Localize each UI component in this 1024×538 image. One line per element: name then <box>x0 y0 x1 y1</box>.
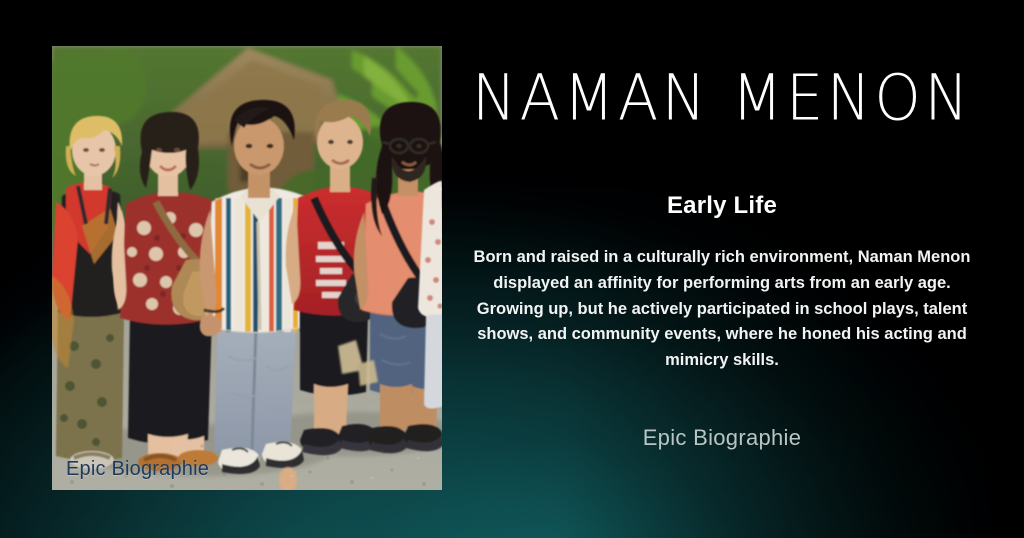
group-photo: Epic Biographie <box>52 46 442 490</box>
brand-watermark: Epic Biographie <box>450 425 994 451</box>
page-title: NAMAN MENON <box>450 66 994 129</box>
body-paragraph: Born and raised in a culturally rich env… <box>470 245 974 374</box>
text-column: NAMAN MENON Early Life Born and raised i… <box>450 0 1024 538</box>
biography-slide: Epic Biographie NAMAN MENON Early Life B… <box>0 0 1024 538</box>
group-photo-illustration <box>52 46 442 490</box>
section-heading: Early Life <box>450 192 994 220</box>
photo-watermark: Epic Biographie <box>66 458 209 481</box>
